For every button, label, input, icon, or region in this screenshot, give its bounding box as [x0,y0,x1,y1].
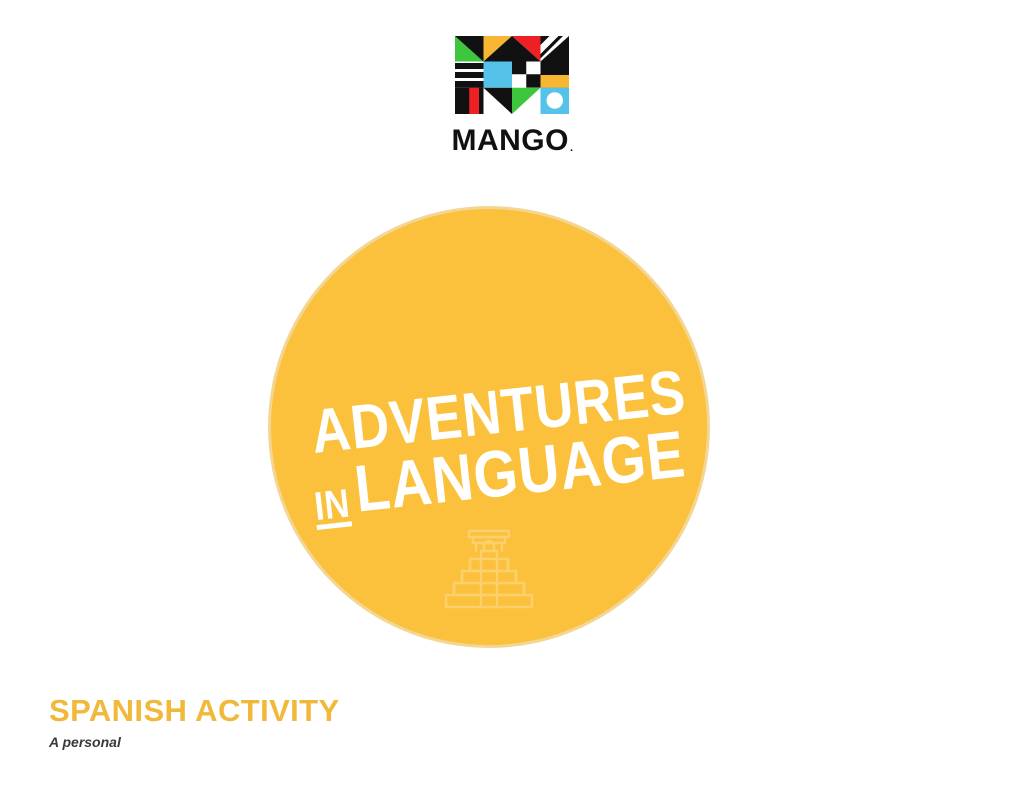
brand-logo-block: MANGO. [0,36,1024,156]
slide-caption: SPANISH ACTIVITY A personal [49,695,649,750]
caption-subtitle: A personal [49,735,649,750]
mayan-pyramid-icon [443,525,535,611]
brand-wordmark: MANGO. [451,126,572,156]
caption-title: SPANISH ACTIVITY [49,695,649,728]
badge-inner: ADVENTURES INLANGUAGE [271,209,707,645]
adventures-badge-circle: ADVENTURES INLANGUAGE [271,209,707,645]
brand-wordmark-text: MANGO [451,124,569,157]
headline-in: IN [313,487,352,531]
badge-headline: ADVENTURES INLANGUAGE [303,366,674,526]
registered-mark: . [570,142,574,154]
mango-m-grid-logo-icon [455,36,569,114]
slide-canvas: MANGO. ADVENTURES INLANGUAGE [0,0,1024,791]
